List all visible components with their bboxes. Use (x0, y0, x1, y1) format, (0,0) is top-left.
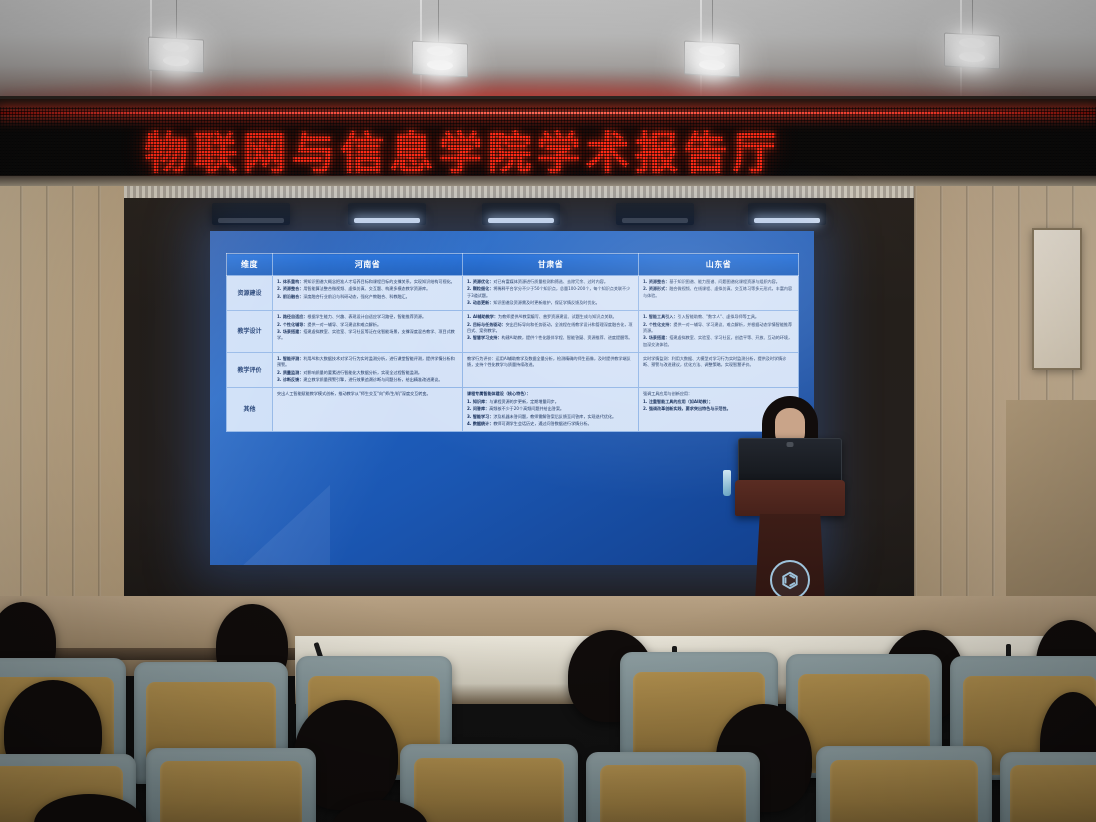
marquee-top-light-bar (0, 111, 1096, 115)
table-cell-henan: 1. 路径自适应：根据学生能力、兴趣、表现设计自适应学习路径，智能推荐资源。2.… (273, 311, 463, 353)
led-marquee-sign: 物联网与信息学院学术报告厅 (0, 96, 1096, 186)
table-row: 教学设计1. 路径自适应：根据学生能力、兴趣、表现设计自适应学习路径，智能推荐资… (227, 311, 799, 353)
ceiling-light-1 (148, 37, 204, 74)
table-row: 教学评价1. 智能评测：利用AI和大数据技术对学习行为实时监测分析，进行课堂智能… (227, 353, 799, 388)
table-cell-gansu: 教学行为评价：运用AI辅助教学及数据全量分析，检测精确的师生画像，及时提供教学端… (463, 353, 639, 388)
table-cell-henan: 1. 体系重构：将知识图谱大概念把准人才培养目标和课程目标的支撑关系，实现知识结… (273, 276, 463, 311)
audience-seat[interactable] (146, 748, 316, 822)
auditorium-scene: 物联网与信息学院学术报告厅 (0, 0, 1096, 822)
water-bottle (723, 470, 731, 496)
col-header-henan: 河南省 (273, 254, 463, 276)
marquee-text: 物联网与信息学院学术报告厅 (0, 121, 1011, 177)
stage-light-2 (348, 203, 426, 225)
comparison-table: 维度 河南省 甘肃省 山东省 资源建设1. 体系重构：将知识图谱大概念把准人才培… (226, 253, 799, 432)
audience-seat[interactable] (1000, 752, 1096, 822)
university-emblem: ⌬ (770, 560, 810, 600)
audience-area (0, 596, 1096, 822)
ceiling-light-2 (412, 41, 468, 78)
col-header-gansu: 甘肃省 (463, 254, 639, 276)
projection-screen: 维度 河南省 甘肃省 山东省 资源建设1. 体系重构：将知识图谱大概念把准人才培… (210, 231, 814, 565)
stage-light-5 (748, 203, 826, 225)
table-cell-gansu: 课程专属智能体建设（核心特色）：1. 知识库：与课程资源的步更新，定期增量同步。… (463, 388, 639, 432)
table-cell-shandong: 实时学情监测：利用大数据、大模型对学习行为实时监测分析，提供及时学情诊断、预警与… (639, 353, 799, 388)
ceiling-light-4 (944, 33, 1000, 70)
stage-light-1 (212, 203, 290, 225)
col-header-shandong: 山东省 (639, 254, 799, 276)
table-row: 其他突出人工智能赋能教学模式创新，推动教学从"师生交互"向"师/生/机"深度交互… (227, 388, 799, 432)
table-header-row: 维度 河南省 甘肃省 山东省 (227, 254, 799, 276)
table-cell-henan: 1. 智能评测：利用AI和大数据技术对学习行为实时监测分析，进行课堂智能评测，提… (273, 353, 463, 388)
stage-soffit (124, 186, 914, 198)
stage-light-4 (616, 203, 694, 225)
podium: ⌬ (735, 452, 845, 620)
ceiling-light-3 (684, 41, 740, 78)
table-cell-henan: 突出人工智能赋能教学模式创新，推动教学从"师生交互"向"师/生/机"深度交互转变… (273, 388, 463, 432)
table-row: 资源建设1. 体系重构：将知识图谱大概念把准人才培养目标和课程目标的支撑关系，实… (227, 276, 799, 311)
table-body: 资源建设1. 体系重构：将知识图谱大概念把准人才培养目标和课程目标的支撑关系，实… (227, 276, 799, 432)
col-header-dimension: 维度 (227, 254, 273, 276)
table-cell-gansu: 1. AI辅助教学：为教师提供AI教案编写、普罗资源建设、试题生成与知识点关联。… (463, 311, 639, 353)
row-dimension-label: 其他 (227, 388, 273, 432)
row-dimension-label: 教学评价 (227, 353, 273, 388)
table-cell-gansu: 1. 资源优化：对已有富媒体资源进行质量检测和筛选、去除冗余、过时内容。2. 颗… (463, 276, 639, 311)
audience-seat[interactable] (816, 746, 992, 822)
row-dimension-label: 教学设计 (227, 311, 273, 353)
ceiling (0, 0, 1096, 100)
table-cell-shandong: 1. 智能工具引入：引入智能助教、"数字人"、虚拟导师等工具。2. 个性化支持：… (639, 311, 799, 353)
wall-art-panel (1032, 228, 1082, 370)
table-cell-shandong: 1. 资源整合：基于知识图谱、能力图谱、问题图谱化课程资源与组织内容。2. 资源… (639, 276, 799, 311)
stage-light-3 (482, 203, 560, 225)
audience-seat[interactable] (586, 752, 760, 822)
row-dimension-label: 资源建设 (227, 276, 273, 311)
audience-seat[interactable] (400, 744, 578, 822)
